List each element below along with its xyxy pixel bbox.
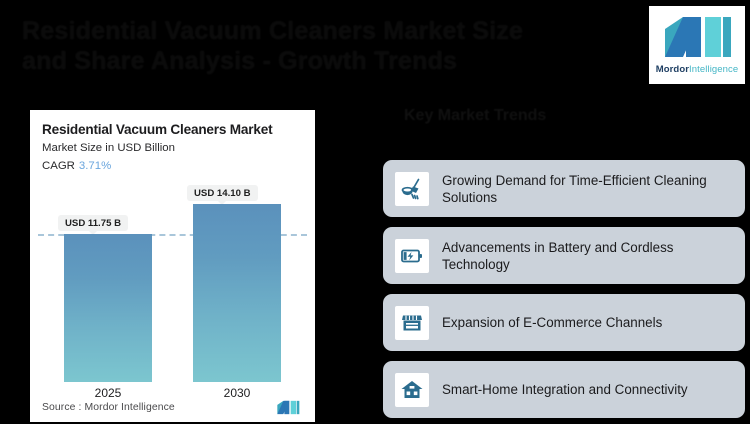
- trend-label: Smart-Home Integration and Connectivity: [442, 381, 688, 398]
- trend-label: Advancements in Battery and Cordless Tec…: [442, 239, 733, 273]
- source-name: Mordor Intelligence: [85, 402, 175, 413]
- brand-logo-text: MordorIntelligence: [656, 64, 739, 75]
- battery-charging-icon: [395, 239, 429, 273]
- source-logo-icon: [276, 400, 300, 415]
- trend-card-smart-home[interactable]: Smart-Home Integration and Connectivity: [383, 361, 745, 418]
- bar-chart-plot: USD 11.75 B 2025 USD 14.10 B 2030: [30, 182, 315, 382]
- bar-value-label-2025: USD 11.75 B: [58, 215, 128, 231]
- chart-cagr: CAGR3.71%: [42, 160, 111, 172]
- trend-label: Growing Demand for Time-Efficient Cleani…: [442, 172, 733, 206]
- broom-bucket-icon: [395, 172, 429, 206]
- trend-label: Expansion of E-Commerce Channels: [442, 314, 662, 331]
- cagr-label: CAGR: [42, 160, 75, 172]
- cagr-value: 3.71%: [79, 160, 111, 172]
- page-title: Residential Vacuum Cleaners Market Size …: [22, 16, 622, 76]
- x-tick-2030: 2030: [193, 386, 281, 400]
- bar-value-label-2030: USD 14.10 B: [187, 185, 258, 201]
- x-tick-2025: 2025: [64, 386, 152, 400]
- mordor-logo-mark: [661, 15, 733, 59]
- brand-word-secondary: Intelligence: [689, 64, 738, 75]
- market-size-chart-card: Residential Vacuum Cleaners Market Marke…: [30, 110, 315, 422]
- trend-card-time-efficient-cleaning[interactable]: Growing Demand for Time-Efficient Cleani…: [383, 160, 745, 217]
- house-icon: [395, 373, 429, 407]
- trends-panel-heading: Key Market Trends: [404, 107, 704, 125]
- chart-source: Source : Mordor Intelligence: [42, 402, 175, 413]
- trend-card-ecommerce-expansion[interactable]: Expansion of E-Commerce Channels: [383, 294, 745, 351]
- chart-title: Residential Vacuum Cleaners Market: [42, 122, 272, 137]
- bar-2025: [64, 234, 152, 382]
- trends-list: Growing Demand for Time-Efficient Cleani…: [383, 160, 745, 418]
- source-prefix: Source :: [42, 402, 82, 413]
- slide-canvas: Residential Vacuum Cleaners Market Size …: [0, 0, 750, 424]
- storefront-icon: [395, 306, 429, 340]
- trend-card-battery-cordless[interactable]: Advancements in Battery and Cordless Tec…: [383, 227, 745, 284]
- chart-subtitle: Market Size in USD Billion: [42, 142, 175, 154]
- brand-logo: MordorIntelligence: [649, 6, 745, 84]
- brand-word-primary: Mordor: [656, 64, 689, 75]
- bar-2030: [193, 204, 281, 382]
